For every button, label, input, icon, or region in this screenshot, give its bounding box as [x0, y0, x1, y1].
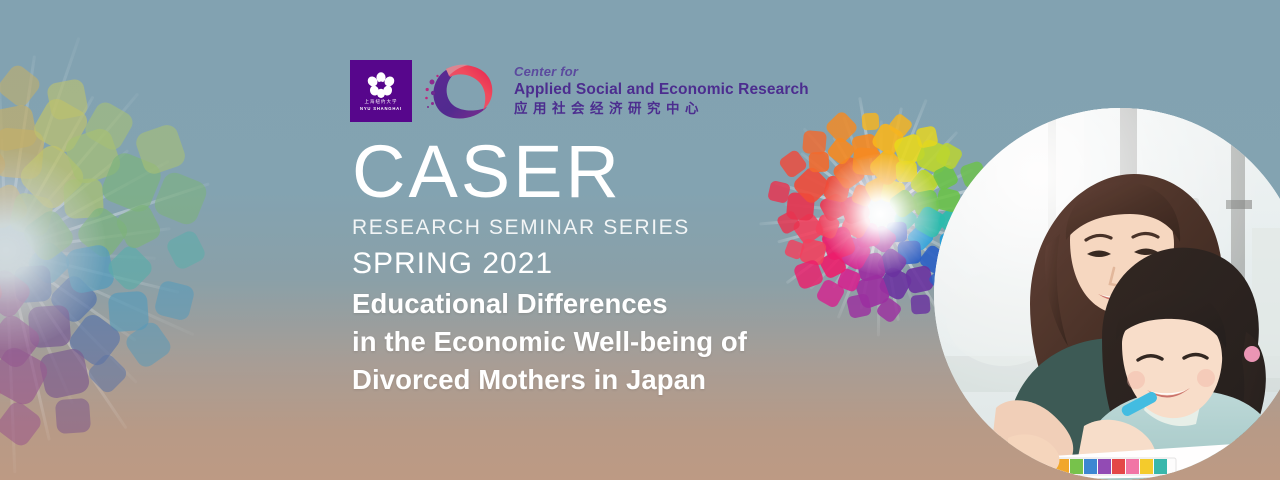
series-block: CASER RESEARCH SEMINAR SERIES SPRING 202…	[352, 136, 690, 279]
mother-and-daughter-photo	[934, 108, 1280, 480]
caser-swoosh-icon	[423, 60, 501, 122]
radial-tile-burst-icon-left	[0, 38, 268, 458]
nyu-english-name: NYU SHANGHAI	[360, 107, 402, 111]
center-name: Center for Applied Social and Economic R…	[514, 64, 809, 119]
series-term: SPRING 2021	[352, 249, 690, 279]
nyu-shanghai-logo: 上海纽约大学 NYU SHANGHAI	[350, 60, 412, 122]
center-line1: Center for	[514, 64, 809, 80]
talk-title-line2: in the Economic Well-being of	[352, 323, 747, 361]
series-subtitle: RESEARCH SEMINAR SERIES	[352, 217, 690, 238]
seminar-banner: 上海纽约大学 NYU SHANGHAI	[0, 0, 1280, 480]
page-title: CASER	[352, 136, 690, 207]
talk-title-line3: Divorced Mothers in Japan	[352, 361, 747, 399]
nyu-chinese-name: 上海纽约大学	[365, 101, 398, 105]
center-line3-chinese: 应用社会经济研究中心	[514, 100, 809, 118]
center-line2: Applied Social and Economic Research	[514, 80, 809, 100]
logo-lockup: 上海纽约大学 NYU SHANGHAI	[350, 60, 809, 122]
talk-title: Educational Differences in the Economic …	[352, 285, 747, 399]
nyu-torch-icon	[364, 72, 398, 98]
talk-title-line1: Educational Differences	[352, 285, 747, 323]
